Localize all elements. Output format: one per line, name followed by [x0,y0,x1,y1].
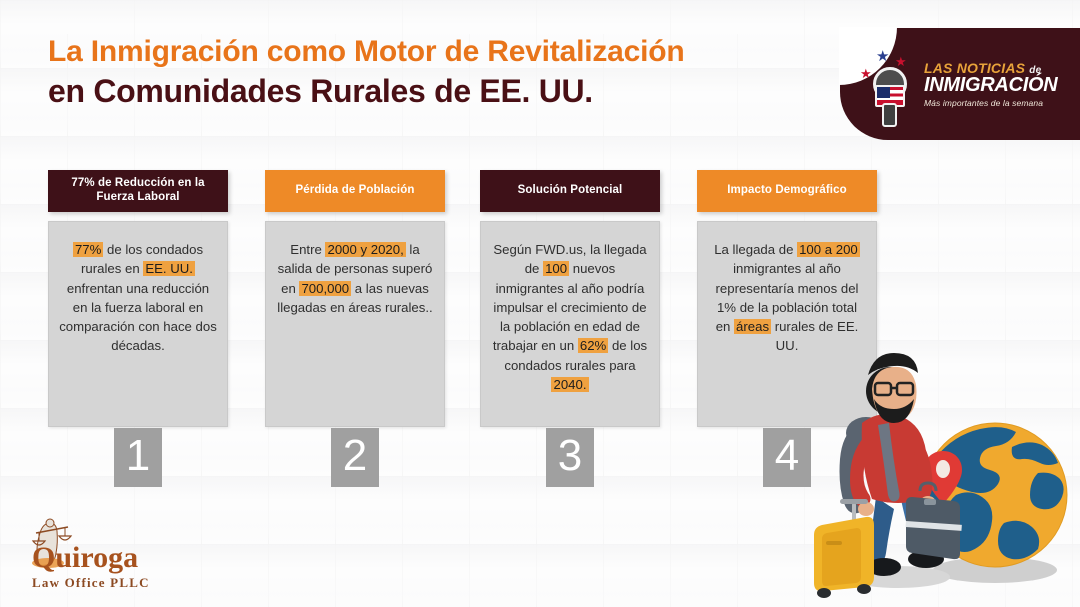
card-header: Pérdida de Población [265,170,445,212]
microphone-icon: ★ ★ ★ [862,41,920,127]
highlighted-stat: 100 [543,261,569,276]
card-body: Según FWD.us, la llegada de 100 nuevos i… [480,221,660,427]
highlighted-stat: 77% [73,242,103,257]
card-number-badge: 1 [114,428,162,487]
info-card[interactable]: 77% de Reducción en la Fuerza Laboral 77… [48,170,228,427]
card-header: 77% de Reducción en la Fuerza Laboral [48,170,228,212]
highlighted-stat: 700,000 [299,281,351,296]
card-header: Solución Potencial [480,170,660,212]
card-body: 77% de los condados rurales en EE. UU. e… [48,221,228,427]
brand-logo[interactable]: ★ ★ ★ LAS NOTICIAS de INMIGRACIÓN Más im… [840,28,1080,140]
traveler-with-globe-illustration [780,327,1080,607]
highlighted-stat: 2040. [551,377,588,392]
info-card[interactable]: Pérdida de Población Entre 2000 y 2020, … [265,170,445,427]
highlighted-stat: áreas [734,319,771,334]
quiroga-logo-subtitle: Law Office PLLC [32,575,150,591]
info-card[interactable]: Solución Potencial Según FWD.us, la lleg… [480,170,660,427]
quiroga-logo-name: Quiroga [32,541,138,575]
card-number-badge: 2 [331,428,379,487]
star-icon: ★ [895,55,907,68]
left-hand [858,502,874,516]
brand-tagline: Más importantes de la semana [924,98,1074,108]
highlighted-stat: 2000 y 2020, [325,242,405,257]
suitcase-wheel [817,588,831,598]
highlighted-stat: EE. UU. [143,261,195,276]
card-number-badge: 3 [546,428,594,487]
quiroga-law-office-logo[interactable]: Quiroga Law Office PLLC [14,517,184,597]
star-icon: ★ [860,67,872,80]
highlighted-stat: 100 a 200 [797,242,860,257]
star-icon: ★ [876,49,889,64]
card-body: Entre 2000 y 2020, la salida de personas… [265,221,445,427]
highlighted-stat: 62% [578,338,608,353]
card-header: Impacto Demográfico [697,170,877,212]
suitcase-wheel [857,584,871,594]
brand-line-2: INMIGRACIÓN [924,75,1074,95]
microphone-stem [882,103,897,127]
